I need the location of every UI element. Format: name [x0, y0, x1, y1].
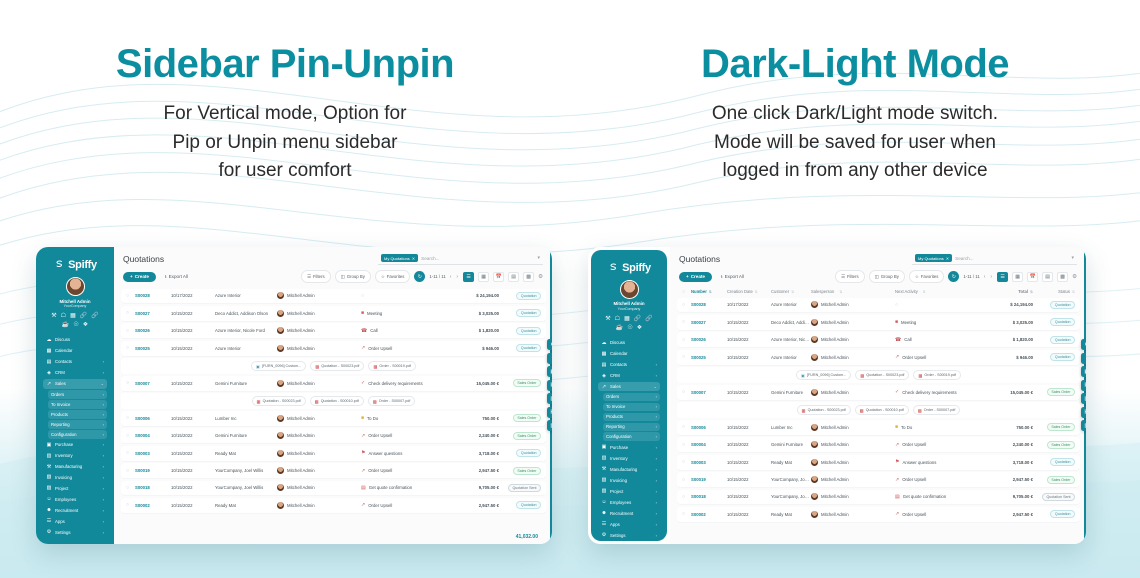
- cell-total: 9,705.00 €: [453, 485, 499, 490]
- chevron-right-icon[interactable]: ›: [103, 402, 104, 407]
- row-checkbox: ○: [126, 502, 135, 508]
- table-row[interactable]: ○S0001910/15/2022YourCompany, Joel Willi…: [121, 463, 546, 479]
- cell-number[interactable]: S00004: [135, 433, 171, 438]
- cell-total: $ 1,820.00: [987, 337, 1033, 342]
- cell-number[interactable]: S00027: [135, 311, 171, 316]
- cell-number[interactable]: S00006: [691, 425, 727, 430]
- cell-number[interactable]: S00007: [135, 381, 171, 386]
- chevron-right-icon[interactable]: ›: [656, 467, 657, 472]
- avatar: [811, 476, 818, 483]
- bag-icon[interactable]: ☖: [61, 313, 66, 319]
- cell-creation-date: 10/15/2022: [727, 494, 771, 499]
- cell-number[interactable]: S00027: [691, 320, 727, 325]
- chevron-left-icon[interactable]: ‹: [449, 274, 453, 280]
- table-row[interactable]: ○S0000310/15/2022Ready MatMitchell Admin…: [121, 446, 546, 462]
- attachment-chip[interactable]: ▥Order - S00019.pdf: [368, 361, 416, 371]
- sidebar-menu: ☁Discuss▦Calendar▤Contacts›◈CRM›↗Sales⌄O…: [41, 335, 109, 541]
- row-checkbox: ○: [682, 477, 691, 483]
- chevron-right-icon[interactable]: ›: [656, 456, 657, 461]
- cell-salesperson: Mitchell Admin: [811, 424, 895, 431]
- table-row[interactable]: ○S0000610/15/2022Lumber IncMitchell Admi…: [121, 411, 546, 427]
- sort-icon[interactable]: ⇅: [839, 290, 842, 294]
- app-screenshot-right: Spiffy Mitchell Admin YourCompany ⚒ ☖ ▦ …: [588, 247, 1086, 544]
- sidebar-item-crm[interactable]: ◈CRM›: [598, 371, 660, 381]
- cell-number[interactable]: S00025: [691, 355, 727, 360]
- search-facet[interactable]: My Quotations ✕: [915, 254, 952, 262]
- sidebar-item-inventory[interactable]: ▥Inventory›: [43, 451, 107, 461]
- chevron-right-icon[interactable]: ›: [103, 453, 104, 458]
- attachment-chip[interactable]: ▥Quotation - S00010.pdf: [855, 405, 909, 415]
- table-row[interactable]: ○S0000210/15/2022Ready MatMitchell Admin…: [677, 507, 1080, 523]
- sidebar-item-sales[interactable]: ↗Sales⌄: [598, 382, 660, 392]
- chevron-right-icon[interactable]: ›: [103, 497, 104, 502]
- attachment-chip[interactable]: ▥Quotation - S00023.pdf: [797, 405, 851, 415]
- search-input[interactable]: My Quotations ✕ Search... ▾: [912, 253, 1077, 265]
- table-row[interactable]: ○S0002710/15/2022Deco Addict, Addison Ol…: [677, 315, 1080, 331]
- chevron-right-icon[interactable]: ›: [103, 475, 104, 480]
- sidebar-item-calendar[interactable]: ▦Calendar: [43, 346, 107, 356]
- sidebar-item-products[interactable]: Products›: [603, 413, 660, 422]
- table-row[interactable]: ○S0000410/15/2022Gemini FurnitureMitchel…: [121, 428, 546, 444]
- todo-icon: ■: [361, 415, 364, 421]
- sidebar-item-sales[interactable]: ↗Sales⌄: [43, 379, 107, 389]
- cell-number[interactable]: S00019: [135, 468, 171, 473]
- cell-creation-date: 10/15/2022: [171, 346, 215, 351]
- sidebar-item-employees[interactable]: ☺Employees›: [598, 497, 660, 507]
- group-icon: ◫: [341, 274, 345, 280]
- chevron-right-icon[interactable]: ›: [656, 424, 657, 429]
- favorites-button[interactable]: ☆ Favorites: [909, 270, 945, 283]
- column-header-number[interactable]: Number⇅: [691, 289, 727, 294]
- cell-next-activity: ⚑Answer questions: [895, 459, 987, 465]
- avatar: [811, 336, 818, 343]
- sidebar-item-settings[interactable]: ⚙Settings›: [598, 530, 660, 540]
- invoicing-icon: ▧: [46, 474, 52, 480]
- chevron-right-icon[interactable]: ›: [656, 445, 657, 450]
- sidebar-item-label: Purchase: [55, 442, 100, 447]
- table-row[interactable]: ○S0001810/15/2022YourCompany, Joel Willi…: [121, 481, 546, 497]
- cell-status: Quotation: [1033, 510, 1075, 518]
- cell-creation-date: 10/17/2022: [727, 302, 771, 307]
- chevron-right-icon[interactable]: ›: [103, 486, 104, 491]
- cell-salesperson: Mitchell Admin: [811, 319, 895, 326]
- cell-number[interactable]: S00018: [135, 485, 171, 490]
- chevron-down-icon[interactable]: ⌄: [101, 381, 104, 386]
- cell-status: Sales Order: [1033, 476, 1075, 484]
- cell-next-activity: ↗Order Upsell: [895, 511, 987, 517]
- chevron-right-icon[interactable]: ›: [656, 414, 657, 419]
- group-by-button[interactable]: ◫ Group By: [335, 270, 371, 283]
- sort-icon[interactable]: ⇅: [1030, 290, 1033, 294]
- column-header-label: Total: [1018, 289, 1028, 294]
- attachment-chip[interactable]: ▥Order - S00007.pdf: [368, 396, 416, 406]
- inventory-icon: ▥: [601, 455, 607, 461]
- link-icon[interactable]: 🔗: [91, 313, 98, 319]
- filters-button[interactable]: ☰ Filters: [835, 270, 865, 283]
- heading-block-right: Dark-Light Mode One click Dark/Light mod…: [570, 0, 1140, 225]
- table-row[interactable]: ○S0000610/15/2022Lumber IncMitchell Admi…: [677, 420, 1080, 436]
- sidebar-item-configuration[interactable]: Configuration›: [603, 432, 660, 441]
- layout-icon[interactable]: ▦: [547, 366, 552, 377]
- meeting-icon: ■: [895, 319, 898, 325]
- search-facet[interactable]: My Quotations ✕: [381, 254, 418, 262]
- page-title-right: Dark-Light Mode: [570, 42, 1140, 86]
- bag-icon[interactable]: ☖: [615, 316, 620, 322]
- view-list-button[interactable]: ☰: [997, 272, 1008, 282]
- wrench-icon[interactable]: ⚒: [51, 313, 56, 319]
- table-row[interactable]: ○S0000410/15/2022Gemini FurnitureMitchel…: [677, 437, 1080, 453]
- sidebar-item-settings[interactable]: ⚙Settings›: [43, 527, 107, 537]
- attachment-chip[interactable]: ▥Quotation - S00023.pdf: [252, 396, 306, 406]
- table-row[interactable]: ○S0002510/15/2022Azure InteriorMitchell …: [677, 350, 1080, 366]
- cell-total: $ 3,025.00: [453, 311, 499, 316]
- sidebar-item-discuss[interactable]: ☁Discuss: [598, 338, 660, 348]
- activity-label: Order Upsell: [902, 355, 926, 360]
- screen-icon[interactable]: ▨: [1081, 420, 1086, 431]
- sidebar-item-project[interactable]: ▨Project›: [43, 484, 107, 494]
- chevron-right-icon[interactable]: ›: [656, 434, 657, 439]
- table-row[interactable]: ○S0001910/15/2022YourCompany, Joel Willi…: [677, 472, 1080, 488]
- refresh-button[interactable]: ↻: [948, 271, 959, 282]
- close-icon[interactable]: ✕: [412, 256, 415, 261]
- attachment-chip[interactable]: ▥Quotation - S00023.pdf: [855, 370, 909, 380]
- sidebar-item-inventory[interactable]: ▥Inventory›: [598, 453, 660, 463]
- cell-number[interactable]: S00002: [135, 503, 171, 508]
- avatar: [277, 345, 284, 352]
- sidebar-item-purchase[interactable]: ▣Purchase›: [43, 440, 107, 450]
- quotations-table: ○S0002810/17/2022Azure InteriorMitchell …: [114, 289, 552, 531]
- create-button[interactable]: + Create: [123, 272, 156, 283]
- filters-button[interactable]: ☰ Filters: [301, 270, 331, 283]
- sidebar-item-orders[interactable]: Orders›: [603, 393, 660, 402]
- sidebar-item-employees[interactable]: ☺Employees›: [43, 495, 107, 505]
- purchase-icon: ▣: [601, 444, 607, 450]
- headings-row: Sidebar Pin-Unpin For Vertical mode, Opt…: [0, 0, 1140, 225]
- attachment-label: Quotation - S00023.pdf: [263, 399, 301, 403]
- chevron-right-icon[interactable]: ›: [656, 362, 657, 367]
- sort-icon[interactable]: ⇅: [923, 290, 926, 294]
- chevron-right-icon[interactable]: ›: [103, 392, 104, 397]
- cell-status: Sales Order: [499, 432, 541, 440]
- status-badge: Sales Order: [513, 432, 541, 440]
- grid-icon[interactable]: ▦: [624, 316, 630, 322]
- chevron-right-icon[interactable]: ›: [656, 533, 657, 538]
- star-icon: ☆: [381, 274, 385, 280]
- cell-number[interactable]: S00007: [691, 390, 727, 395]
- link-icon[interactable]: 🔗: [634, 316, 641, 322]
- cell-salesperson: Mitchell Admin: [811, 493, 895, 500]
- view-pivot-button[interactable]: ▤: [1042, 272, 1053, 282]
- chevron-right-icon[interactable]: ›: [103, 464, 104, 469]
- chevron-right-icon[interactable]: ›: [103, 508, 104, 513]
- chevron-right-icon[interactable]: ›: [103, 519, 104, 524]
- color-icon[interactable]: ▣: [1081, 380, 1086, 391]
- chevron-right-icon[interactable]: ›: [103, 442, 104, 447]
- pin-icon[interactable]: ❖: [83, 322, 88, 328]
- chevron-down-icon[interactable]: ⌄: [654, 384, 657, 389]
- filters-label: Filters: [847, 274, 859, 279]
- sidebar-item-reporting[interactable]: Reporting›: [603, 423, 660, 432]
- bell-icon[interactable]: ☉: [627, 325, 632, 331]
- sidebar-item-orders[interactable]: Orders›: [48, 390, 107, 399]
- chat-icon[interactable]: ☕: [62, 322, 69, 328]
- salesperson-name: Mitchell Admin: [821, 512, 849, 517]
- chevron-right-icon[interactable]: ›: [656, 522, 657, 527]
- attachment-chip[interactable]: ▥Quotation - S00023.pdf: [310, 361, 364, 371]
- cell-number[interactable]: S00025: [135, 346, 171, 351]
- chevron-right-icon[interactable]: ›: [103, 359, 104, 364]
- chevron-down-icon[interactable]: ▾: [537, 255, 540, 261]
- view-pivot-button[interactable]: ▤: [508, 272, 519, 282]
- cell-number[interactable]: S00028: [691, 302, 727, 307]
- search-input[interactable]: My Quotations ✕ Search... ▾: [378, 253, 543, 265]
- pin-icon[interactable]: ❖: [637, 325, 642, 331]
- cell-creation-date: 10/15/2022: [727, 512, 771, 517]
- chevron-right-icon[interactable]: ›: [656, 500, 657, 505]
- cell-customer: Azure Interior: [771, 302, 811, 307]
- cell-creation-date: 10/15/2022: [171, 311, 215, 316]
- activity-label: To Do: [901, 425, 912, 430]
- column-header-total[interactable]: Total⇅: [987, 289, 1033, 294]
- calendar-icon: ▦: [601, 351, 607, 357]
- table-row[interactable]: ○S0000710/15/2022Gemini FurnitureMitchel…: [121, 376, 546, 392]
- table-row[interactable]: ○S0002810/17/2022Azure InteriorMitchell …: [677, 298, 1080, 314]
- avatar: [811, 354, 818, 361]
- column-header-creation-date[interactable]: Creation Date⇅: [727, 289, 771, 294]
- cell-next-activity: ■To Do: [895, 424, 987, 430]
- float-toolbar: ⚙◑▦▣▥▤▨: [547, 339, 552, 431]
- cell-number[interactable]: S00026: [691, 337, 727, 342]
- cell-number[interactable]: S00002: [691, 512, 727, 517]
- settings-icon[interactable]: ⚙: [547, 339, 552, 350]
- cell-number[interactable]: S00003: [135, 451, 171, 456]
- table-row[interactable]: ○S0000710/15/2022Gemini FurnitureMitchel…: [677, 385, 1080, 401]
- gear-icon[interactable]: ⚙: [538, 274, 543, 280]
- layout-icon[interactable]: ▦: [1081, 366, 1086, 377]
- refresh-button[interactable]: ↻: [414, 271, 425, 282]
- chevron-right-icon[interactable]: ›: [656, 489, 657, 494]
- cell-number[interactable]: S00026: [135, 328, 171, 333]
- column-header-label: Next Activity: [895, 289, 918, 294]
- sidebar-item-apps[interactable]: ☲Apps›: [598, 519, 660, 529]
- cell-number[interactable]: S00003: [691, 460, 727, 465]
- theme-icon[interactable]: ◑: [547, 353, 552, 364]
- grand-total: 41,032.00: [114, 531, 552, 544]
- sidebar-item-invoicing[interactable]: ▧Invoicing›: [598, 475, 660, 485]
- answer-icon: ⚑: [895, 459, 899, 465]
- row-checkbox: ○: [126, 450, 135, 456]
- answer-icon: ⚑: [361, 450, 365, 456]
- sidebar-item-apps[interactable]: ☲Apps›: [43, 516, 107, 526]
- cell-customer: Ready Mat: [771, 460, 811, 465]
- attachment-chip[interactable]: ▥Order - S00007.pdf: [913, 405, 961, 415]
- column-header-next-activity[interactable]: Next Activity⇅: [895, 289, 987, 294]
- view-graph-button[interactable]: ▩: [523, 272, 534, 282]
- attachment-label: Quotation - S00010.pdf: [866, 408, 904, 412]
- sidebar-icon[interactable]: ▥: [1081, 393, 1086, 404]
- chevron-down-icon[interactable]: ▾: [1071, 255, 1074, 261]
- sidebar-item-products[interactable]: Products›: [48, 410, 107, 419]
- sidebar-item-configuration[interactable]: Configuration›: [48, 430, 107, 439]
- chevron-right-icon[interactable]: ›: [455, 274, 459, 280]
- avatar[interactable]: [66, 277, 85, 296]
- grid-icon[interactable]: ▦: [70, 313, 76, 319]
- cell-total: 2,947.50 €: [987, 477, 1033, 482]
- status-badge: Quotation: [1050, 458, 1075, 466]
- sidebar-item-manufacturing[interactable]: ⚒Manufacturing›: [43, 462, 107, 472]
- table-row[interactable]: ○S0002610/15/2022Azure Interior, Nicole …: [677, 332, 1080, 348]
- image-icon: ▣: [256, 364, 260, 369]
- table-row[interactable]: ○S0000310/15/2022Ready MatMitchell Admin…: [677, 455, 1080, 471]
- sidebar-item-label: CRM: [610, 373, 653, 378]
- chevron-right-icon[interactable]: ›: [103, 412, 104, 417]
- view-list-button[interactable]: ☰: [463, 272, 474, 282]
- salesperson-name: Mitchell Admin: [287, 328, 315, 333]
- table-row[interactable]: ○S0002710/15/2022Deco Addict, Addison Ol…: [121, 306, 546, 322]
- view-calendar-button[interactable]: 📅: [1027, 272, 1038, 282]
- sidebar-item-contacts[interactable]: ▤Contacts›: [598, 360, 660, 370]
- cell-total: 3,718.00 €: [987, 460, 1033, 465]
- cell-salesperson: Mitchell Admin: [277, 502, 361, 509]
- chevron-right-icon[interactable]: ›: [989, 274, 993, 280]
- table-row[interactable]: ○S0002810/17/2022Azure InteriorMitchell …: [121, 289, 546, 305]
- user-role: YourCompany: [41, 304, 109, 308]
- row-checkbox: ○: [126, 380, 135, 386]
- link-icon[interactable]: 🔗: [645, 316, 652, 322]
- color-icon[interactable]: ▣: [547, 380, 552, 391]
- attachment-chip[interactable]: ▥Quotation - S00010.pdf: [310, 396, 364, 406]
- column-header-salesperson[interactable]: Salesperson⇅: [811, 289, 895, 294]
- table-row[interactable]: ○S0002610/15/2022Azure Interior, Nicole …: [121, 323, 546, 339]
- chevron-right-icon[interactable]: ›: [103, 422, 104, 427]
- column-header-customer[interactable]: Customer⇅: [771, 289, 811, 294]
- upsell-icon: ↗: [361, 502, 365, 508]
- activity-label: Order Upsell: [902, 477, 926, 482]
- sort-icon[interactable]: ⇅: [791, 290, 794, 294]
- attachment-chip[interactable]: ▥Order - S00019.pdf: [913, 370, 961, 380]
- table-row[interactable]: ○S0001810/15/2022YourCompany, Joel Willi…: [677, 490, 1080, 506]
- create-button[interactable]: + Create: [679, 272, 712, 283]
- view-kanban-button[interactable]: ▦: [1012, 272, 1023, 282]
- cell-number[interactable]: S00028: [135, 293, 171, 298]
- salesperson-name: Mitchell Admin: [821, 425, 849, 430]
- chevron-right-icon[interactable]: ›: [656, 404, 657, 409]
- column-header-status[interactable]: Status⇅: [1033, 289, 1075, 294]
- table-header: ○Number⇅Creation Date⇅Customer⇅Salespers…: [677, 289, 1080, 298]
- brand-name: Spiffy: [622, 262, 651, 274]
- attachment-chip[interactable]: ▣[FURN_0096] Custom...: [796, 370, 851, 380]
- link-icon[interactable]: 🔗: [80, 313, 87, 319]
- attachment-label: Order - S00007.pdf: [379, 399, 411, 403]
- chevron-right-icon[interactable]: ›: [656, 511, 657, 516]
- sidebar-item-recruitment[interactable]: ☻Recruitment›: [598, 508, 660, 518]
- cell-total: 15,045.00 €: [453, 381, 499, 386]
- cell-customer: YourCompany, Joel Willis: [771, 494, 811, 499]
- cell-next-activity: ✓Check delivery requirements: [895, 389, 987, 395]
- chevron-right-icon[interactable]: ›: [103, 370, 104, 375]
- chevron-right-icon[interactable]: ›: [656, 478, 657, 483]
- view-calendar-button[interactable]: 📅: [493, 272, 504, 282]
- avatar[interactable]: [620, 280, 639, 299]
- chevron-right-icon[interactable]: ›: [656, 394, 657, 399]
- sidebar-item-project[interactable]: ▨Project›: [598, 486, 660, 496]
- table-row[interactable]: ○S0000210/15/2022Ready MatMitchell Admin…: [121, 498, 546, 514]
- sidebar-item-to-invoice[interactable]: To Invoice›: [48, 400, 107, 409]
- wrench-icon[interactable]: ⚒: [605, 316, 610, 322]
- chat-icon[interactable]: ☕: [616, 325, 623, 331]
- cell-number[interactable]: S00018: [691, 494, 727, 499]
- chevron-right-icon[interactable]: ›: [103, 530, 104, 535]
- attachment-chip[interactable]: ▣[FURN_0096] Custom...: [251, 361, 306, 371]
- sort-icon[interactable]: ⇅: [709, 290, 712, 294]
- row-checkbox: ○: [682, 442, 691, 448]
- attachment-label: [FURN_0096] Custom...: [262, 364, 301, 368]
- export-all-button[interactable]: ⭳ Export All: [160, 270, 193, 284]
- sidebar-icon[interactable]: ▥: [547, 393, 552, 404]
- avatar: [277, 327, 284, 334]
- cell-number[interactable]: S00004: [691, 442, 727, 447]
- cell-creation-date: 10/15/2022: [727, 442, 771, 447]
- theme-icon[interactable]: ◑: [1081, 353, 1086, 364]
- cell-total: 2,947.50 €: [453, 503, 499, 508]
- favorites-button[interactable]: ☆ Favorites: [375, 270, 411, 283]
- close-icon[interactable]: ✕: [946, 256, 949, 261]
- chevron-left-icon[interactable]: ‹: [983, 274, 987, 280]
- sort-icon[interactable]: ⇅: [755, 290, 758, 294]
- sidebar-item-calendar[interactable]: ▦Calendar: [598, 349, 660, 359]
- group-by-label: Group By: [881, 274, 899, 279]
- upsell-icon: ↗: [895, 477, 899, 483]
- chevron-right-icon[interactable]: ›: [656, 373, 657, 378]
- sidebar-item-crm[interactable]: ◈CRM›: [43, 368, 107, 378]
- cell-number[interactable]: S00019: [691, 477, 727, 482]
- chevron-right-icon[interactable]: ›: [103, 432, 104, 437]
- cell-salesperson: Mitchell Admin: [277, 484, 361, 491]
- cell-number[interactable]: S00006: [135, 416, 171, 421]
- status-badge: Quotation: [1050, 301, 1075, 309]
- table-row[interactable]: ○S0002510/15/2022Azure InteriorMitchell …: [121, 341, 546, 357]
- group-by-button[interactable]: ◫ Group By: [869, 270, 905, 283]
- sidebar-item-to-invoice[interactable]: To Invoice›: [603, 403, 660, 412]
- screen-icon[interactable]: ▨: [547, 420, 552, 431]
- cell-salesperson: Mitchell Admin: [811, 459, 895, 466]
- export-all-label: Export All: [725, 274, 744, 279]
- manufacturing-icon: ⚒: [601, 466, 607, 472]
- palette-icon[interactable]: ▤: [1081, 407, 1086, 418]
- sort-icon[interactable]: ⇅: [1072, 290, 1075, 294]
- sidebar-item-purchase[interactable]: ▣Purchase›: [598, 442, 660, 452]
- cell-status: Quotation: [1033, 353, 1075, 361]
- sidebar-item-manufacturing[interactable]: ⚒Manufacturing›: [598, 464, 660, 474]
- bell-icon[interactable]: ☉: [73, 322, 78, 328]
- column-header-label: Status: [1058, 289, 1070, 294]
- sidebar-item-invoicing[interactable]: ▧Invoicing›: [43, 473, 107, 483]
- gear-icon[interactable]: ⚙: [1072, 274, 1077, 280]
- sidebar-item-discuss[interactable]: ☁Discuss: [43, 335, 107, 345]
- view-graph-button[interactable]: ▩: [1057, 272, 1068, 282]
- sidebar-item-contacts[interactable]: ▤Contacts›: [43, 357, 107, 367]
- cell-next-activity: ▤Get quote confirmation: [361, 485, 453, 491]
- view-kanban-button[interactable]: ▦: [478, 272, 489, 282]
- palette-icon[interactable]: ▤: [547, 407, 552, 418]
- sidebar-item-recruitment[interactable]: ☻Recruitment›: [43, 506, 107, 516]
- upsell-icon: ↗: [895, 354, 899, 360]
- sidebar-item-reporting[interactable]: Reporting›: [48, 420, 107, 429]
- row-checkbox: ○: [126, 415, 135, 421]
- upsell-icon: ↗: [895, 442, 899, 448]
- settings-icon[interactable]: ⚙: [1081, 339, 1086, 350]
- export-all-button[interactable]: ⭳ Export All: [716, 270, 749, 284]
